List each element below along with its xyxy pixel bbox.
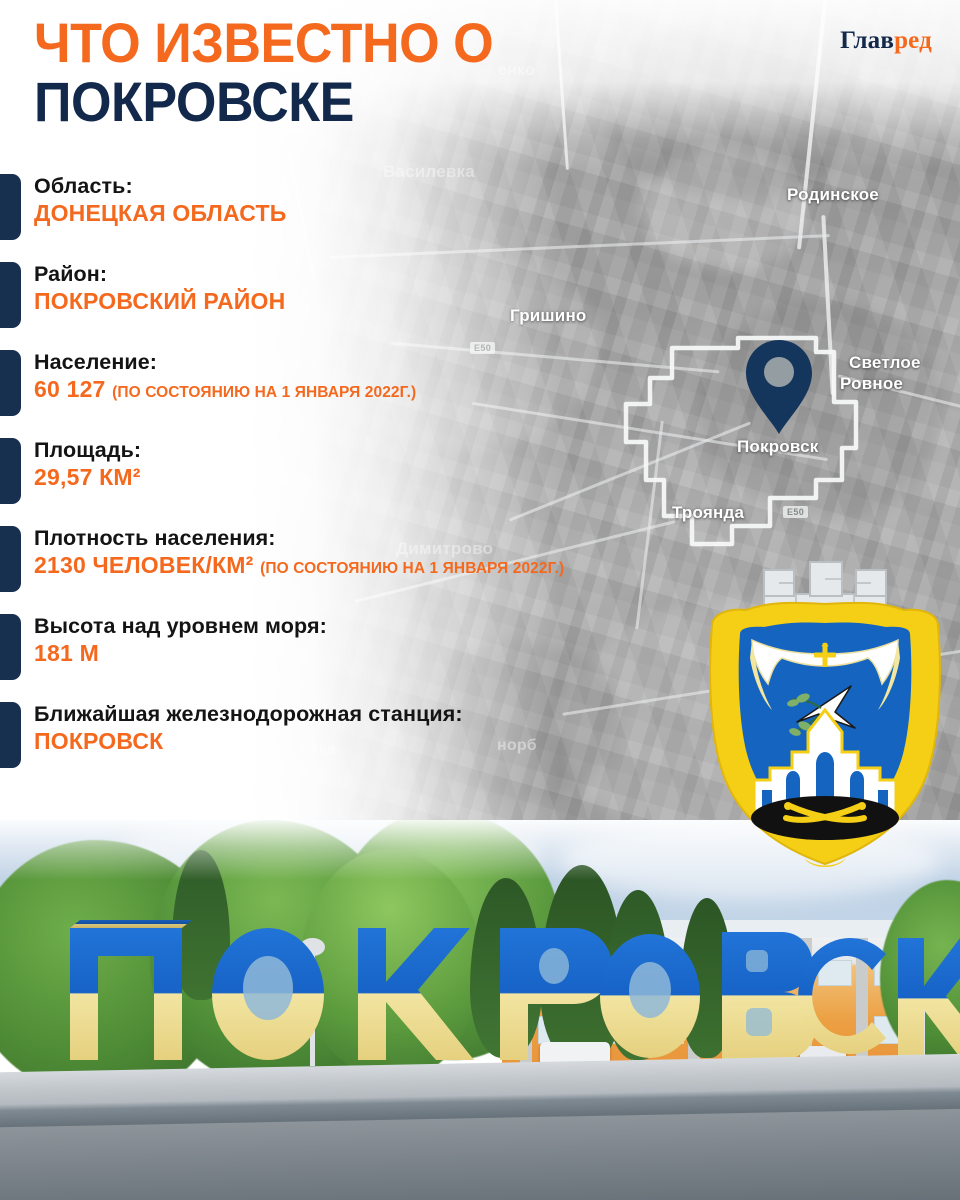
glavred-logo[interactable]: Главред xyxy=(840,28,932,53)
fact-label: Ближайшая железнодорожная станция: xyxy=(34,702,760,727)
fact-value: 60 127 (ПО СОСТОЯНИЮ НА 1 ЯНВАРЯ 2022Г.) xyxy=(34,377,760,403)
fact-value: 181 М xyxy=(34,641,760,667)
fact-row-elevation: Высота над уровнем моря: 181 М xyxy=(0,614,760,680)
letter-R xyxy=(500,928,612,1060)
letter-O1 xyxy=(212,928,324,1060)
tab-marker xyxy=(0,262,21,328)
logo-part-glav: Глав xyxy=(840,27,894,54)
tab-marker xyxy=(0,174,21,240)
letter-O2 xyxy=(600,934,700,1058)
page-title: ЧТО ИЗВЕСТНО О ПОКРОВСКЕ xyxy=(34,16,528,130)
map-label-svetloe: Светлое xyxy=(849,353,921,373)
fact-label: Область: xyxy=(34,174,760,199)
fact-value: 2130 ЧЕЛОВЕК/КМ² (ПО СОСТОЯНИЮ НА 1 ЯНВА… xyxy=(34,553,760,579)
fact-value-text: ПОКРОВСКИЙ РАЙОН xyxy=(34,288,285,314)
tab-marker xyxy=(0,702,21,768)
fact-row-area: Площадь: 29,57 КМ² xyxy=(0,438,760,504)
fact-row-oblast: Область: ДОНЕЦКАЯ ОБЛАСТЬ xyxy=(0,174,760,240)
logo-part-red: ред xyxy=(894,27,932,54)
road-shield: E50 xyxy=(783,506,808,518)
letter-P1 xyxy=(70,920,192,1060)
tab-marker xyxy=(0,526,21,592)
map-label-rodinskoe: Родинское xyxy=(787,185,879,205)
fact-row-population: Население: 60 127 (ПО СОСТОЯНИЮ НА 1 ЯНВ… xyxy=(0,350,760,416)
fact-value-text: 2130 ЧЕЛОВЕК/КМ² xyxy=(34,552,254,578)
fact-value: ДОНЕЦКАЯ ОБЛАСТЬ xyxy=(34,201,760,227)
fact-value-text: ПОКРОВСК xyxy=(34,728,163,754)
fact-note: (ПО СОСТОЯНИЮ НА 1 ЯНВАРЯ 2022Г.) xyxy=(112,384,416,401)
fact-value: ПОКРОВСКИЙ РАЙОН xyxy=(34,289,760,315)
fact-label: Плотность населения: xyxy=(34,526,760,551)
fact-value: 29,57 КМ² xyxy=(34,465,760,491)
map-label-rovnoe: Ровное xyxy=(840,374,903,394)
fact-value-text: ДОНЕЦКАЯ ОБЛАСТЬ xyxy=(34,200,286,226)
tab-marker xyxy=(0,350,21,416)
fact-list: Область: ДОНЕЦКАЯ ОБЛАСТЬ Район: ПОКРОВС… xyxy=(0,174,760,790)
infographic-canvas: E50 E50 Василевка енко Родинское Гришино… xyxy=(0,0,960,1200)
fact-note: (ПО СОСТОЯНИЮ НА 1 ЯНВАРЯ 2022Г.) xyxy=(260,560,564,577)
fact-value-text: 60 127 xyxy=(34,376,106,402)
fact-value-text: 181 М xyxy=(34,640,99,666)
fact-value-text: 29,57 КМ² xyxy=(34,464,141,490)
fact-label: Площадь: xyxy=(34,438,760,463)
fact-label: Район: xyxy=(34,262,760,287)
coat-of-arms xyxy=(692,552,958,872)
fact-label: Высота над уровнем моря: xyxy=(34,614,760,639)
mound-with-sabres xyxy=(751,796,899,840)
city-entrance-photo xyxy=(0,820,960,1200)
title-line-1: ЧТО ИЗВЕСТНО О xyxy=(34,16,493,71)
title-line-2: ПОКРОВСКЕ xyxy=(34,75,493,130)
fact-value: ПОКРОВСК xyxy=(34,729,760,755)
tab-marker xyxy=(0,614,21,680)
fact-row-rayon: Район: ПОКРОВСКИЙ РАЙОН xyxy=(0,262,760,328)
tab-marker xyxy=(0,438,21,504)
fact-row-density: Плотность населения: 2130 ЧЕЛОВЕК/КМ² (П… xyxy=(0,526,760,592)
letter-K1 xyxy=(358,928,474,1060)
fact-label: Население: xyxy=(34,350,760,375)
fact-row-railway-station: Ближайшая железнодорожная станция: ПОКРО… xyxy=(0,702,760,768)
